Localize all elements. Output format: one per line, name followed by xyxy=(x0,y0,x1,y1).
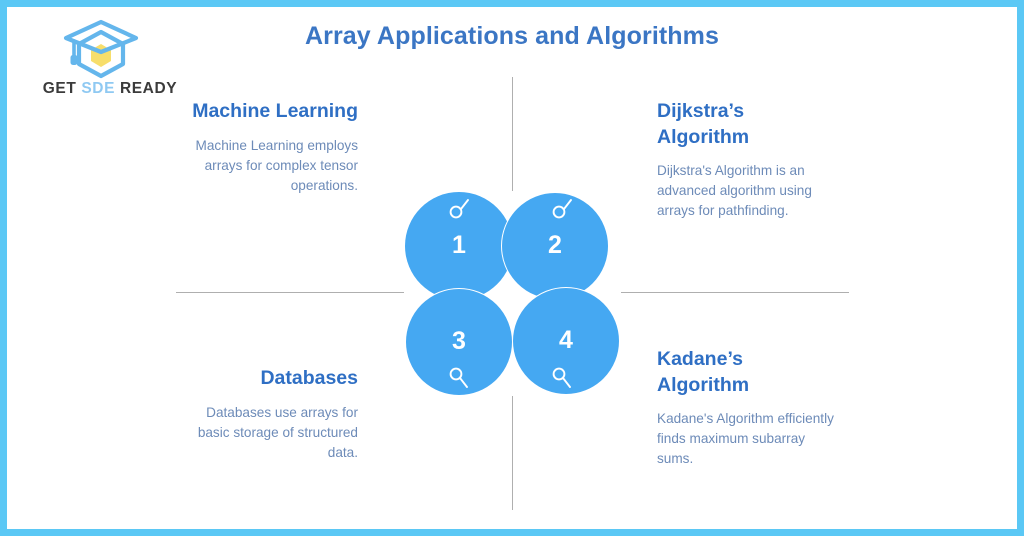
cluster-circle-label: 3 xyxy=(406,327,512,356)
brand-word-get: GET xyxy=(43,80,77,97)
divider-horizontal-right xyxy=(621,292,849,293)
cluster-circle-3[interactable]: 3 xyxy=(405,288,513,396)
divider-horizontal-left xyxy=(176,292,404,293)
divider-vertical-top xyxy=(512,77,513,191)
cluster-circle-2[interactable]: 2 xyxy=(501,192,609,300)
brand-wordmark: GET SDE READY xyxy=(24,80,196,98)
graduation-cap-hexagon-icon xyxy=(62,18,140,80)
brand-word-sde: SDE xyxy=(81,80,115,97)
center-venn-cluster: 1 2 3 4 xyxy=(405,192,621,396)
quadrant-body: Databases use arrays for basic storage o… xyxy=(180,403,358,463)
cluster-circle-label: 2 xyxy=(502,231,608,260)
quadrant-dijkstras-algorithm: Dijkstra’s Algorithm Dijkstra's Algorith… xyxy=(657,99,839,221)
quadrant-body: Dijkstra's Algorithm is an advanced algo… xyxy=(657,161,839,221)
quadrant-body: Machine Learning employs arrays for comp… xyxy=(180,136,358,196)
infographic-canvas: GET SDE READY Array Applications and Alg… xyxy=(0,0,1024,536)
quadrant-databases: Databases Databases use arrays for basic… xyxy=(180,366,358,463)
page-title: Array Applications and Algorithms xyxy=(262,22,762,51)
quadrant-machine-learning: Machine Learning Machine Learning employ… xyxy=(180,99,358,196)
quadrant-title: Dijkstra’s Algorithm xyxy=(657,99,839,150)
quadrant-title: Databases xyxy=(180,366,358,392)
cluster-circle-label: 1 xyxy=(405,231,513,260)
cluster-circle-1[interactable]: 1 xyxy=(405,192,513,300)
divider-vertical-bottom xyxy=(512,396,513,510)
cluster-circle-label: 4 xyxy=(513,326,619,355)
quadrant-title: Machine Learning xyxy=(180,99,358,125)
brand-logo[interactable]: GET SDE READY xyxy=(24,18,196,102)
cluster-circle-4[interactable]: 4 xyxy=(512,287,620,395)
brand-word-ready: READY xyxy=(120,80,177,97)
quadrant-body: Kadane's Algorithm efficiently finds max… xyxy=(657,409,839,469)
quadrant-title: Kadane’s Algorithm xyxy=(657,347,839,398)
quadrant-kadanes-algorithm: Kadane’s Algorithm Kadane's Algorithm ef… xyxy=(657,347,839,469)
